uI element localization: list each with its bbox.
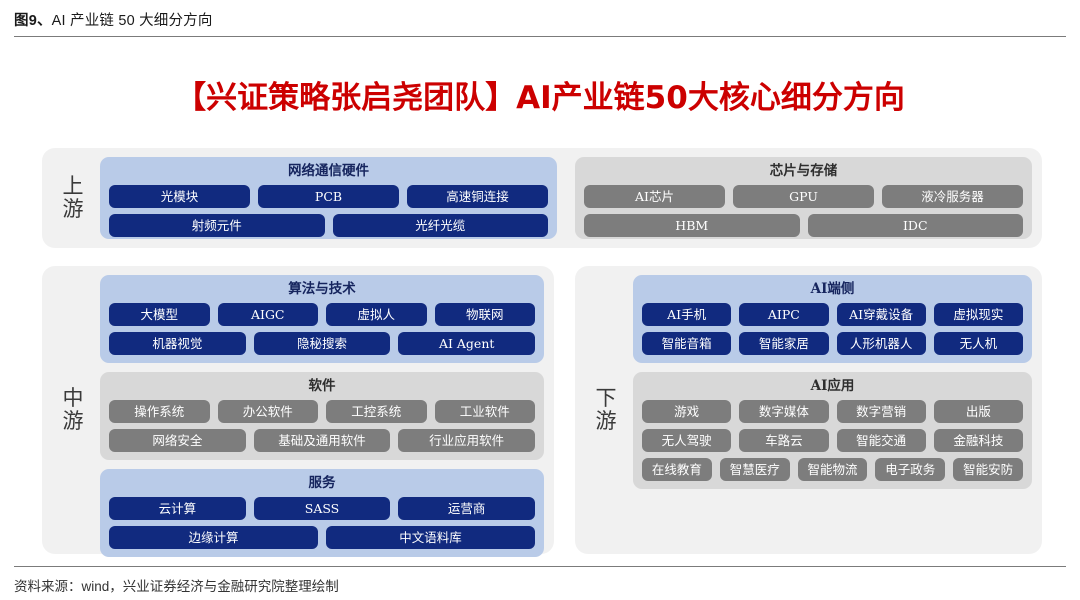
chip-algorithms-technology-0-1[interactable]: AIGC bbox=[218, 303, 319, 326]
chip-network-comm-hardware-1-0[interactable]: 射频元件 bbox=[109, 214, 325, 237]
chip-ai-applications-2-1[interactable]: 智慧医疗 bbox=[720, 458, 790, 481]
figure-page: 图9、AI 产业链 50 大细分方向 【兴证策略张启尧团队】AI产业链50大核心… bbox=[0, 0, 1080, 600]
chip-ai-devices-1-1[interactable]: 智能家居 bbox=[739, 332, 828, 355]
chip-row: 边缘计算中文语料库 bbox=[109, 526, 535, 549]
chip-chips-storage-0-1[interactable]: GPU bbox=[733, 185, 874, 208]
panel-network-comm-hardware: 网络通信硬件光模块PCB高速铜连接射频元件光纤光缆 bbox=[100, 157, 557, 239]
value-chain-diagram: 上游网络通信硬件光模块PCB高速铜连接射频元件光纤光缆芯片与存储AI芯片GPU液… bbox=[42, 148, 1042, 554]
chip-network-comm-hardware-1-1[interactable]: 光纤光缆 bbox=[333, 214, 549, 237]
chip-ai-applications-0-1[interactable]: 数字媒体 bbox=[739, 400, 828, 423]
chip-algorithms-technology-0-0[interactable]: 大模型 bbox=[109, 303, 210, 326]
chip-ai-applications-0-0[interactable]: 游戏 bbox=[642, 400, 731, 423]
tier-label-upstream: 上游 bbox=[46, 157, 100, 239]
chip-ai-devices-1-2[interactable]: 人形机器人 bbox=[837, 332, 926, 355]
tier-body-upstream: 网络通信硬件光模块PCB高速铜连接射频元件光纤光缆芯片与存储AI芯片GPU液冷服… bbox=[100, 157, 1032, 239]
chip-row: 操作系统办公软件工控系统工业软件 bbox=[109, 400, 535, 423]
tier-label-midstream: 中游 bbox=[46, 275, 100, 545]
chip-ai-applications-1-0[interactable]: 无人驾驶 bbox=[642, 429, 731, 452]
chip-network-comm-hardware-0-1[interactable]: PCB bbox=[258, 185, 399, 208]
page-title: 【兴证策略张启尧团队】AI产业链50大核心细分方向 bbox=[0, 72, 1080, 117]
chip-row: 机器视觉隐秘搜索AI Agent bbox=[109, 332, 535, 355]
chip-row: 游戏数字媒体数字营销出版 bbox=[642, 400, 1023, 423]
panel-algorithms-technology: 算法与技术大模型AIGC虚拟人物联网机器视觉隐秘搜索AI Agent bbox=[100, 275, 544, 363]
figure-caption-rest: AI 产业链 50 大细分方向 bbox=[52, 13, 213, 29]
chip-row: AI芯片GPU液冷服务器 bbox=[584, 185, 1023, 208]
chip-row: 在线教育智慧医疗智能物流电子政务智能安防 bbox=[642, 458, 1023, 481]
tier-label-char: 游 bbox=[596, 410, 617, 433]
chip-services-1-1[interactable]: 中文语料库 bbox=[326, 526, 535, 549]
chip-row: 云计算SASS运营商 bbox=[109, 497, 535, 520]
panel-ai-devices: AI端侧AI手机AIPCAI穿戴设备虚拟现实智能音箱智能家居人形机器人无人机 bbox=[633, 275, 1032, 363]
chip-chips-storage-0-0[interactable]: AI芯片 bbox=[584, 185, 725, 208]
chip-services-1-0[interactable]: 边缘计算 bbox=[109, 526, 318, 549]
chip-network-comm-hardware-0-2[interactable]: 高速铜连接 bbox=[407, 185, 548, 208]
chip-ai-devices-1-3[interactable]: 无人机 bbox=[934, 332, 1023, 355]
chip-software-1-0[interactable]: 网络安全 bbox=[109, 429, 246, 452]
chip-ai-devices-1-0[interactable]: 智能音箱 bbox=[642, 332, 731, 355]
chip-ai-applications-2-2[interactable]: 智能物流 bbox=[798, 458, 868, 481]
chip-row: 网络安全基础及通用软件行业应用软件 bbox=[109, 429, 535, 452]
chip-algorithms-technology-1-2[interactable]: AI Agent bbox=[398, 332, 535, 355]
chip-row: 光模块PCB高速铜连接 bbox=[109, 185, 548, 208]
chip-algorithms-technology-1-0[interactable]: 机器视觉 bbox=[109, 332, 246, 355]
tier-downstream: 下游AI端侧AI手机AIPCAI穿戴设备虚拟现实智能音箱智能家居人形机器人无人机… bbox=[575, 266, 1042, 554]
panel-title-ai-applications: AI应用 bbox=[642, 377, 1023, 396]
panel-title-chips-storage: 芯片与存储 bbox=[584, 162, 1023, 181]
panel-ai-applications: AI应用游戏数字媒体数字营销出版无人驾驶车路云智能交通金融科技在线教育智慧医疗智… bbox=[633, 372, 1032, 489]
chip-row: 智能音箱智能家居人形机器人无人机 bbox=[642, 332, 1023, 355]
chip-ai-devices-0-1[interactable]: AIPC bbox=[739, 303, 828, 326]
chip-ai-applications-0-2[interactable]: 数字营销 bbox=[837, 400, 926, 423]
chip-software-0-3[interactable]: 工业软件 bbox=[435, 400, 536, 423]
chip-ai-applications-1-1[interactable]: 车路云 bbox=[739, 429, 828, 452]
chip-chips-storage-0-2[interactable]: 液冷服务器 bbox=[882, 185, 1023, 208]
chip-chips-storage-1-0[interactable]: HBM bbox=[584, 214, 800, 237]
tier-body-downstream: AI端侧AI手机AIPCAI穿戴设备虚拟现实智能音箱智能家居人形机器人无人机AI… bbox=[633, 275, 1032, 545]
panel-services: 服务云计算SASS运营商边缘计算中文语料库 bbox=[100, 469, 544, 557]
chip-ai-applications-2-3[interactable]: 电子政务 bbox=[875, 458, 945, 481]
tier-label-char: 游 bbox=[63, 410, 84, 433]
chip-chips-storage-1-1[interactable]: IDC bbox=[808, 214, 1024, 237]
chip-ai-devices-0-0[interactable]: AI手机 bbox=[642, 303, 731, 326]
chip-software-0-1[interactable]: 办公软件 bbox=[218, 400, 319, 423]
chip-ai-applications-2-4[interactable]: 智能安防 bbox=[953, 458, 1023, 481]
chip-software-0-2[interactable]: 工控系统 bbox=[326, 400, 427, 423]
chip-software-1-1[interactable]: 基础及通用软件 bbox=[254, 429, 391, 452]
chip-ai-devices-0-3[interactable]: 虚拟现实 bbox=[934, 303, 1023, 326]
chip-row: 无人驾驶车路云智能交通金融科技 bbox=[642, 429, 1023, 452]
panel-title-network-comm-hardware: 网络通信硬件 bbox=[109, 162, 548, 181]
tier-label-char: 下 bbox=[596, 387, 617, 410]
tier-label-char: 上 bbox=[63, 175, 84, 198]
panel-title-algorithms-technology: 算法与技术 bbox=[109, 280, 535, 299]
chip-row: HBMIDC bbox=[584, 214, 1023, 237]
header-divider bbox=[14, 36, 1066, 37]
tier-body-midstream: 算法与技术大模型AIGC虚拟人物联网机器视觉隐秘搜索AI Agent软件操作系统… bbox=[100, 275, 544, 545]
figure-caption: 图9、AI 产业链 50 大细分方向 bbox=[14, 9, 1066, 30]
chip-software-0-0[interactable]: 操作系统 bbox=[109, 400, 210, 423]
chip-ai-applications-0-3[interactable]: 出版 bbox=[934, 400, 1023, 423]
panel-title-services: 服务 bbox=[109, 474, 535, 493]
chip-row: 大模型AIGC虚拟人物联网 bbox=[109, 303, 535, 326]
tier-label-char: 游 bbox=[63, 198, 84, 221]
chip-ai-applications-1-2[interactable]: 智能交通 bbox=[837, 429, 926, 452]
panel-chips-storage: 芯片与存储AI芯片GPU液冷服务器HBMIDC bbox=[575, 157, 1032, 239]
chip-services-0-2[interactable]: 运营商 bbox=[398, 497, 535, 520]
panel-software: 软件操作系统办公软件工控系统工业软件网络安全基础及通用软件行业应用软件 bbox=[100, 372, 544, 460]
figure-caption-prefix: 图9、 bbox=[14, 13, 52, 29]
tier-label-downstream: 下游 bbox=[579, 275, 633, 545]
chip-ai-applications-1-3[interactable]: 金融科技 bbox=[934, 429, 1023, 452]
panel-title-ai-devices: AI端侧 bbox=[642, 280, 1023, 299]
chip-network-comm-hardware-0-0[interactable]: 光模块 bbox=[109, 185, 250, 208]
tier-midstream: 中游算法与技术大模型AIGC虚拟人物联网机器视觉隐秘搜索AI Agent软件操作… bbox=[42, 266, 554, 554]
chip-services-0-0[interactable]: 云计算 bbox=[109, 497, 246, 520]
chip-row: AI手机AIPCAI穿戴设备虚拟现实 bbox=[642, 303, 1023, 326]
tier-label-char: 中 bbox=[63, 387, 84, 410]
chip-software-1-2[interactable]: 行业应用软件 bbox=[398, 429, 535, 452]
chip-algorithms-technology-0-3[interactable]: 物联网 bbox=[435, 303, 536, 326]
chip-algorithms-technology-0-2[interactable]: 虚拟人 bbox=[326, 303, 427, 326]
chip-ai-applications-2-0[interactable]: 在线教育 bbox=[642, 458, 712, 481]
footer-divider bbox=[14, 566, 1066, 567]
chip-algorithms-technology-1-1[interactable]: 隐秘搜索 bbox=[254, 332, 391, 355]
source-note: 资料来源：wind，兴业证券经济与金融研究院整理绘制 bbox=[14, 575, 339, 595]
chip-row: 射频元件光纤光缆 bbox=[109, 214, 548, 237]
tier-upstream: 上游网络通信硬件光模块PCB高速铜连接射频元件光纤光缆芯片与存储AI芯片GPU液… bbox=[42, 148, 1042, 248]
panel-title-software: 软件 bbox=[109, 377, 535, 396]
chip-ai-devices-0-2[interactable]: AI穿戴设备 bbox=[837, 303, 926, 326]
chip-services-0-1[interactable]: SASS bbox=[254, 497, 391, 520]
